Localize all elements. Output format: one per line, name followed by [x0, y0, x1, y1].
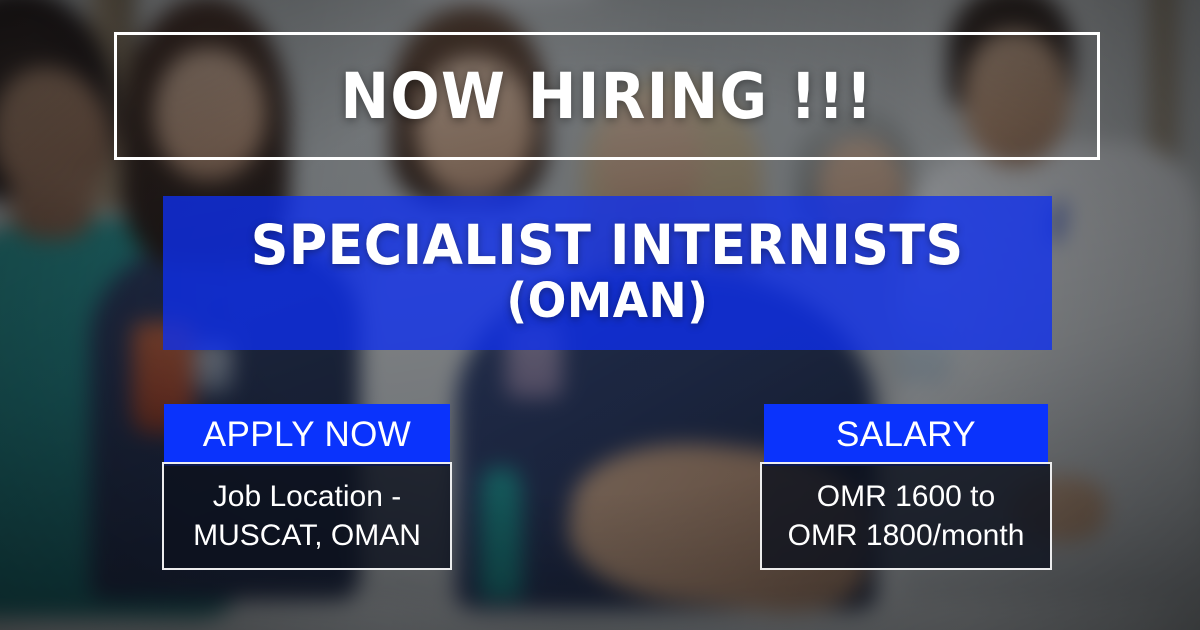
salary-range-line-2: OMR 1800/month	[788, 516, 1025, 555]
job-title-line-1: SPECIALIST INTERNISTS	[251, 216, 964, 274]
salary-range-line-1: OMR 1600 to	[817, 477, 995, 516]
apply-now-card[interactable]: APPLY NOW Job Location - MUSCAT, OMAN	[162, 404, 452, 570]
job-location-value: MUSCAT, OMAN	[193, 516, 421, 555]
salary-card[interactable]: SALARY OMR 1600 to OMR 1800/month	[760, 404, 1052, 570]
job-poster: NOW HIRING !!! SPECIALIST INTERNISTS (OM…	[0, 0, 1200, 630]
salary-body: OMR 1600 to OMR 1800/month	[760, 462, 1052, 570]
job-title-band: SPECIALIST INTERNISTS (OMAN)	[163, 196, 1052, 350]
job-title-line-2: (OMAN)	[506, 274, 708, 330]
salary-header: SALARY	[764, 404, 1048, 466]
apply-now-header[interactable]: APPLY NOW	[164, 404, 450, 466]
headline-now-hiring: NOW HIRING !!!	[153, 32, 1060, 160]
apply-now-body: Job Location - MUSCAT, OMAN	[162, 462, 452, 570]
job-location-label: Job Location -	[213, 477, 401, 516]
content-layer: NOW HIRING !!! SPECIALIST INTERNISTS (OM…	[0, 0, 1200, 630]
